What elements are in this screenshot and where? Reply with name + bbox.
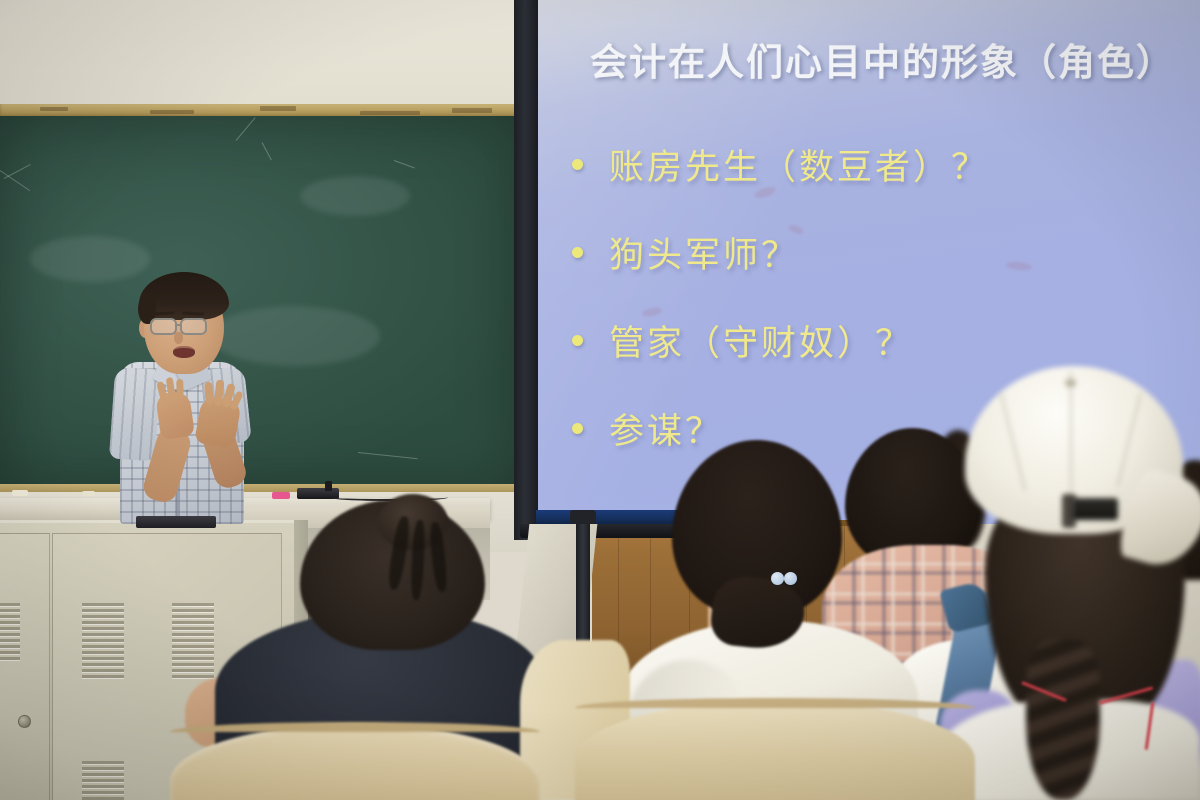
- screen-support-post: [576, 516, 590, 646]
- list-item: 管家（守财奴）？: [572, 296, 989, 384]
- list-item: 账房先生（数豆者）？: [572, 120, 989, 208]
- bullet-text: 管家（守财奴）？: [609, 315, 913, 366]
- classroom-photo-scene: 会计在人们心目中的形象（角色） 账房先生（数豆者）？ 狗头军师？ 管家（守财奴）…: [0, 0, 1200, 800]
- bullet-dot-icon: [572, 423, 583, 434]
- list-item: 狗头军师？: [572, 208, 989, 296]
- chalk-piece: [12, 490, 28, 496]
- chalk-piece: [82, 491, 95, 496]
- glasses-bridge-icon: [177, 324, 182, 326]
- glasses-lens-left-icon: [150, 318, 177, 335]
- cabinet-vent-icon: [172, 603, 214, 681]
- projection-screen-frame: [514, 0, 538, 540]
- bullet-text: 账房先生（数豆者）？: [609, 139, 989, 190]
- lecturer-mouth: [173, 346, 195, 358]
- bullet-text: 参谋？: [609, 403, 723, 454]
- bullet-dot-icon: [572, 247, 583, 258]
- cap-button-icon: [1065, 379, 1076, 387]
- slide-title: 会计在人们心目中的形象（角色）: [590, 32, 1175, 86]
- cap-seam: [1070, 372, 1072, 492]
- bullet-dot-icon: [572, 159, 583, 170]
- hair-tie-bead-icon: [784, 572, 797, 585]
- glasses-lens-right-icon: [180, 318, 207, 335]
- hair-tie-bead-icon: [771, 572, 784, 585]
- upper-wall: [0, 0, 520, 114]
- cabinet-vent-icon: [0, 603, 20, 663]
- screen-post-cap: [570, 510, 596, 524]
- lecturer-nose: [174, 332, 183, 344]
- lecturer-belt: [136, 516, 216, 528]
- remote-antenna-icon: [325, 481, 332, 491]
- bullet-dot-icon: [572, 335, 583, 346]
- lecturer: [112, 272, 312, 522]
- student-braid: [1026, 640, 1100, 800]
- cabinet-door-left[interactable]: [0, 533, 50, 800]
- cabinet-vent-icon: [82, 761, 124, 800]
- cap-adjuster-strap: [1072, 498, 1118, 520]
- slide-bullet-list: 账房先生（数豆者）？ 狗头军师？ 管家（守财奴）？ 参谋？: [572, 120, 989, 472]
- cabinet-vent-icon: [82, 603, 124, 681]
- bullet-text: 狗头军师？: [609, 227, 799, 278]
- cabinet-lock-icon[interactable]: [18, 715, 31, 728]
